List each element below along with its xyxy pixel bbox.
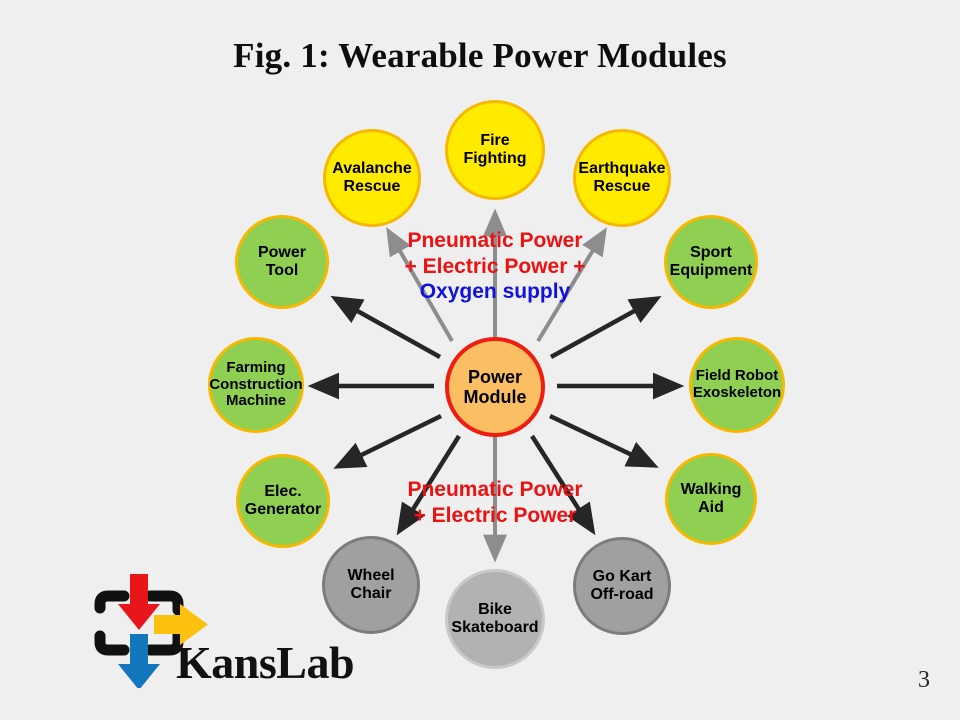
node-bike-skateboard-label: BikeSkateboard (451, 601, 538, 637)
node-avalanche-rescue-line1: Avalanche (332, 160, 411, 177)
arrow-to-sport-equipment (551, 299, 656, 357)
page-number: 3 (918, 667, 930, 694)
node-farming-construction-machine-line1: Farming (226, 359, 285, 376)
node-walking-aid-label: WalkingAid (681, 481, 742, 517)
node-go-kart-off-road[interactable]: Go KartOff-road (573, 537, 671, 635)
annotation-top: Pneumatic Power + Electric Power + Oxyge… (360, 228, 630, 305)
node-walking-aid-line1: Walking (681, 481, 742, 498)
node-earthquake-rescue-line2: Rescue (594, 178, 651, 195)
node-field-robot-exoskeleton[interactable]: Field RobotExoskeleton (689, 337, 785, 433)
node-field-robot-exoskeleton-line2: Exoskeleton (693, 384, 781, 401)
node-sport-equipment-label: SportEquipment (670, 244, 753, 280)
node-fire-fighting-line1: Fire (480, 132, 509, 149)
node-farming-construction-machine-label: FarmingConstructionMachine (209, 360, 302, 410)
node-fire-fighting[interactable]: FireFighting (445, 100, 545, 200)
node-earthquake-rescue[interactable]: EarthquakeRescue (573, 129, 671, 227)
brand-name: KansLab (176, 636, 354, 689)
node-farming-construction-machine-line2: Construction (209, 376, 302, 393)
annotation-top-line3: Oxygen supply (360, 279, 630, 305)
node-sport-equipment[interactable]: SportEquipment (664, 215, 758, 309)
annotation-top-line2: + Electric Power + (360, 254, 630, 280)
node-fire-fighting-label: FireFighting (463, 132, 526, 168)
node-bike-skateboard[interactable]: BikeSkateboard (445, 569, 545, 669)
node-go-kart-off-road-line2: Off-road (590, 586, 653, 603)
node-sport-equipment-line1: Sport (690, 244, 732, 261)
annotation-bottom-line2: + Electric Power (360, 503, 630, 529)
node-go-kart-off-road-label: Go KartOff-road (590, 568, 653, 604)
annotation-top-line1: Pneumatic Power (360, 228, 630, 254)
node-walking-aid[interactable]: WalkingAid (665, 453, 757, 545)
annotation-bottom-line1: Pneumatic Power (360, 477, 630, 503)
node-farming-construction-machine-line3: Machine (226, 392, 286, 409)
node-elec-generator-line1: Elec. (264, 483, 301, 500)
node-fire-fighting-line2: Fighting (463, 150, 526, 167)
node-power-tool[interactable]: PowerTool (235, 215, 329, 309)
node-earthquake-rescue-line1: Earthquake (578, 160, 665, 177)
node-bike-skateboard-line1: Bike (478, 601, 512, 618)
node-power-module-line1: Power (468, 367, 522, 387)
node-field-robot-exoskeleton-line1: Field Robot (696, 367, 779, 384)
arrow-down-blue-icon (118, 634, 160, 688)
node-go-kart-off-road-line1: Go Kart (593, 568, 652, 585)
node-farming-construction-machine[interactable]: FarmingConstructionMachine (208, 337, 304, 433)
arrow-to-elec-generator (339, 416, 441, 466)
node-earthquake-rescue-label: EarthquakeRescue (578, 160, 665, 196)
node-power-module-label: Power Module (464, 367, 527, 407)
slide-canvas: Fig. 1: Wearable Power Modules (0, 0, 960, 720)
node-power-tool-line1: Power (258, 244, 306, 261)
arrow-to-walking-aid (550, 416, 653, 465)
node-elec-generator-label: Elec.Generator (245, 483, 321, 519)
node-avalanche-rescue-label: AvalancheRescue (332, 160, 411, 196)
node-avalanche-rescue[interactable]: AvalancheRescue (323, 129, 421, 227)
node-field-robot-exoskeleton-label: Field RobotExoskeleton (693, 368, 781, 402)
annotation-bottom: Pneumatic Power + Electric Power (360, 477, 630, 528)
arrow-to-power-tool (336, 299, 440, 357)
node-avalanche-rescue-line2: Rescue (344, 178, 401, 195)
node-power-module[interactable]: Power Module (445, 337, 545, 437)
node-walking-aid-line2: Aid (698, 499, 724, 516)
node-power-tool-label: PowerTool (258, 244, 306, 280)
node-elec-generator[interactable]: Elec.Generator (236, 454, 330, 548)
node-sport-equipment-line2: Equipment (670, 262, 753, 279)
node-power-module-line2: Module (464, 387, 527, 407)
node-bike-skateboard-line2: Skateboard (451, 619, 538, 636)
arrow-down-red-icon (118, 574, 160, 630)
node-elec-generator-line2: Generator (245, 501, 321, 518)
node-power-tool-line2: Tool (266, 262, 299, 279)
